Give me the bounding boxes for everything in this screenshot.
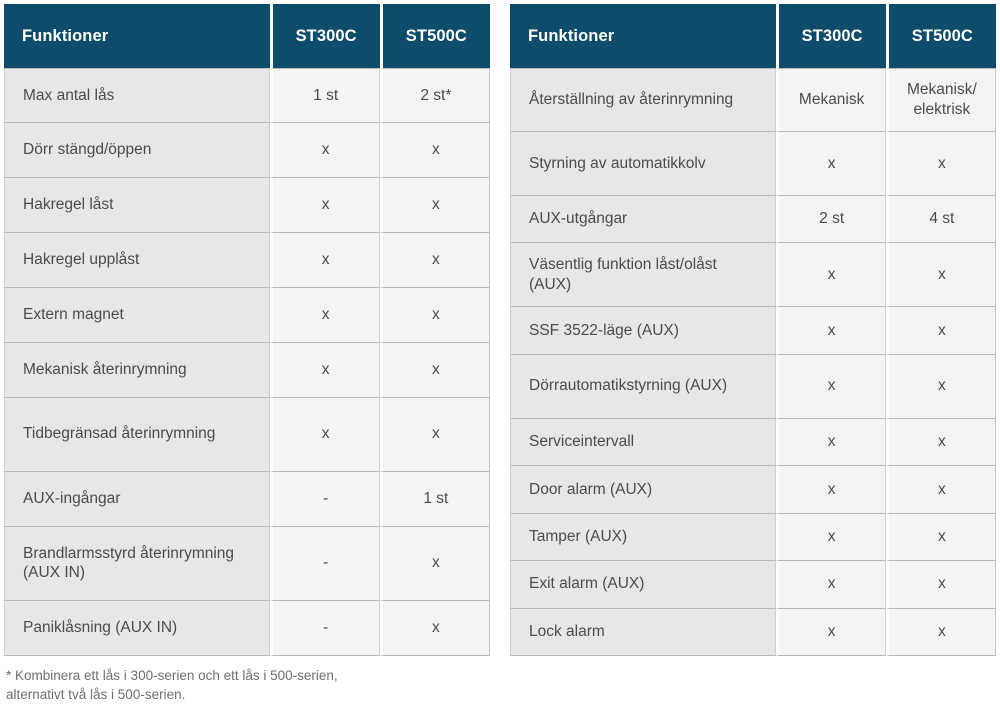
st500c-value-cell: x xyxy=(886,561,996,608)
st500c-value-cell: 1 st xyxy=(380,472,490,527)
feature-cell: Hakregel upplåst xyxy=(4,233,270,288)
st300c-value-cell: x xyxy=(270,343,380,398)
table-row: SSF 3522-läge (AUX)xx xyxy=(510,307,996,354)
st500c-value-cell: x xyxy=(380,601,490,656)
table-row: Tamper (AUX)xx xyxy=(510,514,996,561)
table-row: Hakregel låstxx xyxy=(4,178,490,233)
st300c-value-cell: x xyxy=(776,307,886,354)
table-row: Mekanisk återinrymningxx xyxy=(4,343,490,398)
st500c-value-cell: x xyxy=(380,123,490,178)
table-row: Hakregel upplåstxx xyxy=(4,233,490,288)
feature-cell: Brandlarmsstyrd återinrymning (AUX IN) xyxy=(4,527,270,601)
st300c-value-cell: 2 st xyxy=(776,196,886,243)
feature-cell: Hakregel låst xyxy=(4,178,270,233)
table-row: Brandlarmsstyrd återinrymning (AUX IN)-x xyxy=(4,527,490,601)
table-row: Väsentlig funktion låst/olåst (AUX)xx xyxy=(510,243,996,307)
feature-cell: Tamper (AUX) xyxy=(510,514,776,561)
st500c-value-cell: x xyxy=(886,514,996,561)
feature-cell: Paniklåsning (AUX IN) xyxy=(4,601,270,656)
feature-cell: Exit alarm (AUX) xyxy=(510,561,776,608)
feature-cell: Door alarm (AUX) xyxy=(510,466,776,513)
table-row: Lock alarmxx xyxy=(510,609,996,656)
st500c-value-cell: 4 st xyxy=(886,196,996,243)
st300c-value-cell: Mekanisk xyxy=(776,68,886,132)
st300c-value-cell: x xyxy=(270,233,380,288)
right-header-row: Funktioner ST300C ST500C xyxy=(510,4,996,68)
feature-cell: Dörrautomatikstyrning (AUX) xyxy=(510,355,776,419)
table-row: Dörr stängd/öppenxx xyxy=(4,123,490,178)
table-row: Max antal lås1 st2 st* xyxy=(4,68,490,123)
table-row: Styrning av automatikkolvxx xyxy=(510,132,996,196)
feature-cell: Dörr stängd/öppen xyxy=(4,123,270,178)
spec-comparison-page: Funktioner ST300C ST500C Max antal lås1 … xyxy=(0,0,1000,700)
st300c-value-cell: - xyxy=(270,472,380,527)
st300c-value-cell: - xyxy=(270,601,380,656)
table-row: Extern magnetxx xyxy=(4,288,490,343)
st500c-value-cell: 2 st* xyxy=(380,68,490,123)
st500c-value-cell: x xyxy=(380,398,490,472)
left-header-st500c: ST500C xyxy=(380,4,490,68)
feature-cell: Serviceintervall xyxy=(510,419,776,466)
st300c-value-cell: x xyxy=(270,178,380,233)
st300c-value-cell: x xyxy=(776,132,886,196)
right-header-st500c: ST500C xyxy=(886,4,996,68)
footnote-line-1: * Kombinera ett lås i 300-serien och ett… xyxy=(6,666,476,685)
feature-cell: Mekanisk återinrymning xyxy=(4,343,270,398)
feature-cell: AUX-ingångar xyxy=(4,472,270,527)
st300c-value-cell: x xyxy=(270,123,380,178)
st500c-value-cell: x xyxy=(886,307,996,354)
st300c-value-cell: x xyxy=(776,514,886,561)
st300c-value-cell: x xyxy=(270,398,380,472)
st500c-value-cell: x xyxy=(380,527,490,601)
tables-container: Funktioner ST300C ST500C Max antal lås1 … xyxy=(0,0,1000,656)
table-row: Paniklåsning (AUX IN)-x xyxy=(4,601,490,656)
st300c-value-cell: x xyxy=(776,419,886,466)
st500c-value-cell: x xyxy=(886,609,996,656)
feature-cell: Lock alarm xyxy=(510,609,776,656)
st500c-value-cell: x xyxy=(380,178,490,233)
st300c-value-cell: x xyxy=(270,288,380,343)
st500c-value-cell: x xyxy=(380,343,490,398)
st500c-value-cell: x xyxy=(886,132,996,196)
table-row: AUX-ingångar-1 st xyxy=(4,472,490,527)
st500c-value-cell: x xyxy=(886,466,996,513)
st500c-value-cell: Mekanisk/ elektrisk xyxy=(886,68,996,132)
left-spec-table: Funktioner ST300C ST500C Max antal lås1 … xyxy=(4,4,490,656)
st500c-value-cell: x xyxy=(380,288,490,343)
right-spec-table: Funktioner ST300C ST500C Återställning a… xyxy=(510,4,996,656)
st500c-value-cell: x xyxy=(886,419,996,466)
st300c-value-cell: x xyxy=(776,355,886,419)
left-table-block: Funktioner ST300C ST500C Max antal lås1 … xyxy=(4,4,490,656)
st300c-value-cell: 1 st xyxy=(270,68,380,123)
footnote: * Kombinera ett lås i 300-serien och ett… xyxy=(6,666,476,704)
right-header-st300c: ST300C xyxy=(776,4,886,68)
st300c-value-cell: x xyxy=(776,466,886,513)
right-header-funktioner: Funktioner xyxy=(510,4,776,68)
st300c-value-cell: - xyxy=(270,527,380,601)
feature-cell: Återställning av återinrymning xyxy=(510,68,776,132)
left-header-row: Funktioner ST300C ST500C xyxy=(4,4,490,68)
feature-cell: Tidbegränsad återinrymning xyxy=(4,398,270,472)
table-row: Door alarm (AUX)xx xyxy=(510,466,996,513)
table-row: Serviceintervallxx xyxy=(510,419,996,466)
feature-cell: Styrning av automatikkolv xyxy=(510,132,776,196)
left-table-body: Max antal lås1 st2 st*Dörr stängd/öppenx… xyxy=(4,68,490,656)
st500c-value-cell: x xyxy=(886,243,996,307)
right-table-head: Funktioner ST300C ST500C xyxy=(510,4,996,68)
left-header-st300c: ST300C xyxy=(270,4,380,68)
feature-cell: Extern magnet xyxy=(4,288,270,343)
feature-cell: Max antal lås xyxy=(4,68,270,123)
table-row: AUX-utgångar2 st4 st xyxy=(510,196,996,243)
st300c-value-cell: x xyxy=(776,609,886,656)
table-row: Exit alarm (AUX)xx xyxy=(510,561,996,608)
st300c-value-cell: x xyxy=(776,561,886,608)
st300c-value-cell: x xyxy=(776,243,886,307)
left-table-head: Funktioner ST300C ST500C xyxy=(4,4,490,68)
table-row: Dörrautomatikstyrning (AUX)xx xyxy=(510,355,996,419)
right-table-body: Återställning av återinrymningMekaniskMe… xyxy=(510,68,996,656)
st500c-value-cell: x xyxy=(380,233,490,288)
left-header-funktioner: Funktioner xyxy=(4,4,270,68)
st500c-value-cell: x xyxy=(886,355,996,419)
feature-cell: AUX-utgångar xyxy=(510,196,776,243)
footnote-line-2: alternativt två lås i 500-serien. xyxy=(6,685,476,704)
right-table-block: Funktioner ST300C ST500C Återställning a… xyxy=(510,4,996,656)
feature-cell: SSF 3522-läge (AUX) xyxy=(510,307,776,354)
table-row: Återställning av återinrymningMekaniskMe… xyxy=(510,68,996,132)
feature-cell: Väsentlig funktion låst/olåst (AUX) xyxy=(510,243,776,307)
table-row: Tidbegränsad återinrymningxx xyxy=(4,398,490,472)
